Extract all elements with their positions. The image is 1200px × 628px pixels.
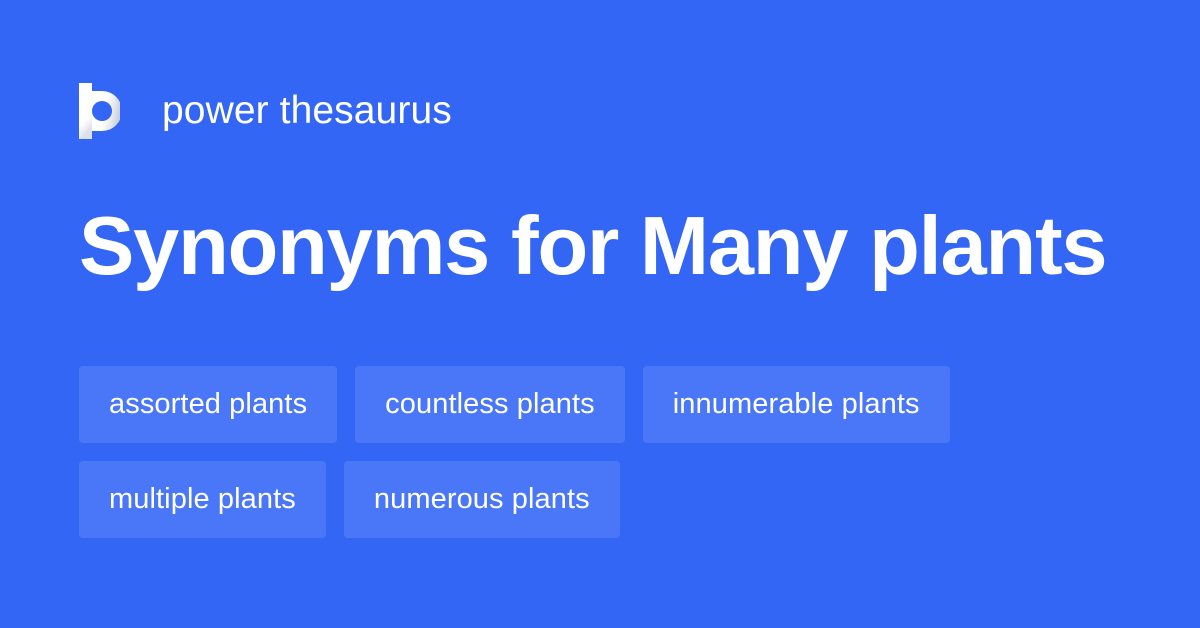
- synonym-chip-list: assorted plants countless plants innumer…: [79, 366, 1129, 538]
- brand-lockup[interactable]: power thesaurus: [79, 83, 452, 139]
- synonym-chip[interactable]: multiple plants: [79, 461, 326, 538]
- brand-name: power thesaurus: [162, 83, 452, 139]
- synonym-chip[interactable]: countless plants: [355, 366, 625, 443]
- page-title: Synonyms for Many plants: [79, 196, 1139, 296]
- power-thesaurus-b-logo-icon: [79, 83, 120, 139]
- synonym-chip[interactable]: numerous plants: [344, 461, 620, 538]
- og-card: power thesaurus Synonyms for Many plants…: [0, 0, 1200, 628]
- synonym-chip[interactable]: innumerable plants: [643, 366, 950, 443]
- synonym-chip[interactable]: assorted plants: [79, 366, 337, 443]
